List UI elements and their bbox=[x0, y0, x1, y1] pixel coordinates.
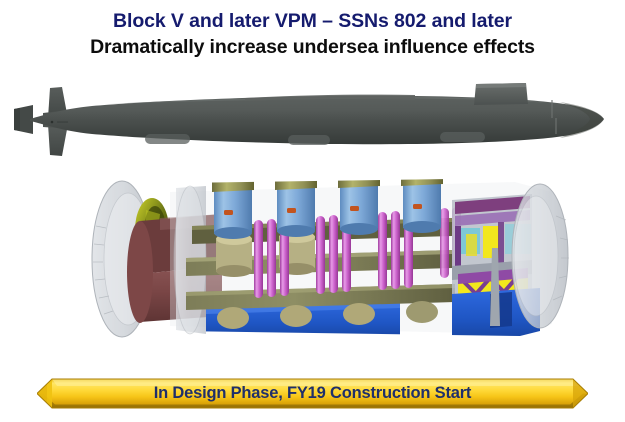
banner-shape bbox=[37, 377, 588, 410]
page-title: Block V and later VPM – SSNs 802 and lat… bbox=[0, 8, 625, 34]
payload-tube-2 bbox=[277, 184, 315, 237]
sail-conning-tower bbox=[474, 83, 528, 105]
title-block: Block V and later VPM – SSNs 802 and lat… bbox=[0, 8, 625, 61]
payload-tube-1 bbox=[214, 186, 252, 239]
submarine-profile-image bbox=[0, 78, 625, 160]
payload-tube-4 bbox=[403, 180, 441, 233]
payload-tube-3 bbox=[340, 182, 378, 235]
vpm-cutaway-image bbox=[0, 166, 625, 351]
page-subtitle: Dramatically increase undersea influence… bbox=[0, 34, 625, 61]
submarine-svg bbox=[0, 78, 625, 160]
vpm-cutaway-svg bbox=[0, 166, 625, 351]
aft-pressure-hull-ring bbox=[512, 184, 569, 328]
slide-canvas: Block V and later VPM – SSNs 802 and lat… bbox=[0, 0, 625, 422]
status-banner: In Design Phase, FY19 Construction Start bbox=[37, 377, 588, 410]
tube-hatch-cover-group bbox=[210, 166, 445, 179]
